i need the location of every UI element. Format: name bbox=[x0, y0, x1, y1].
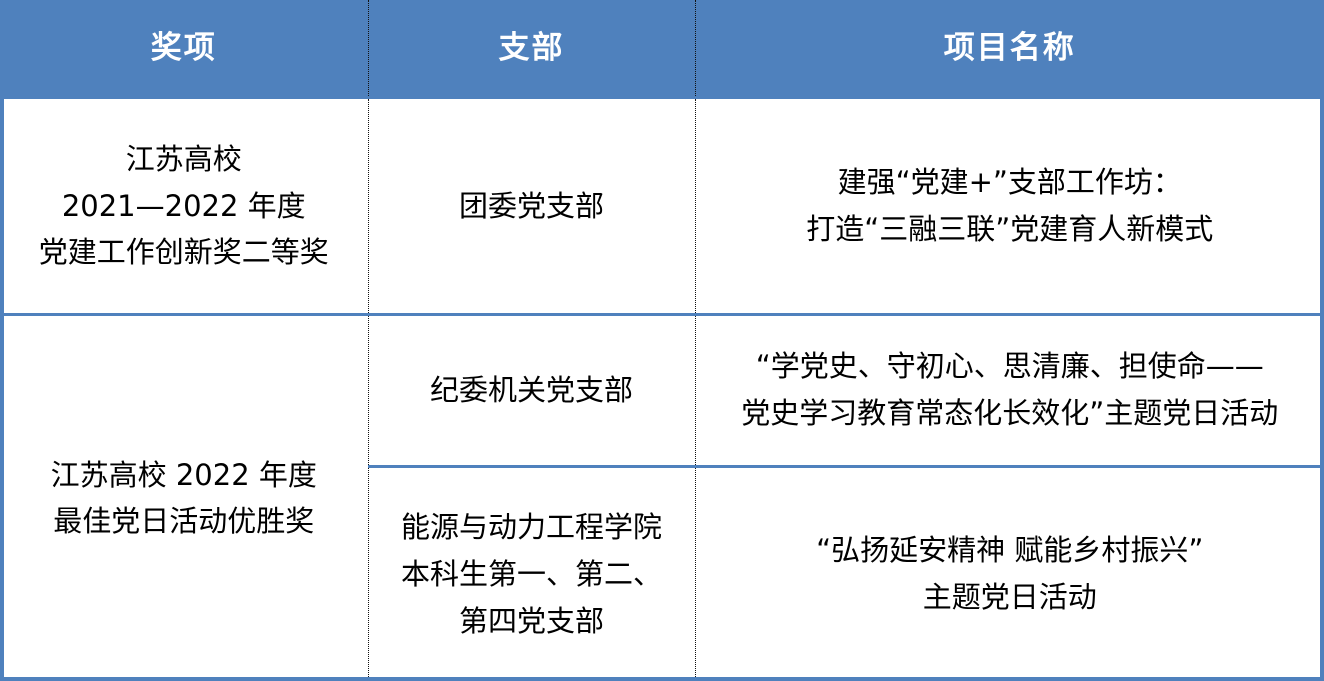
cell-award: 江苏高校 2022 年度 最佳党日活动优胜奖 bbox=[0, 314, 368, 681]
branch-line: 能源与动力工程学院 bbox=[377, 504, 687, 551]
award-table: 奖项 支部 项目名称 江苏高校 2021—2022 年度 党建工作创新奖二等奖 … bbox=[0, 0, 1324, 681]
table-body: 江苏高校 2021—2022 年度 党建工作创新奖二等奖 团委党支部 建强“党建… bbox=[0, 98, 1324, 681]
cell-project: 建强“党建+”支部工作坊： 打造“三融三联”党建育人新模式 bbox=[695, 98, 1324, 315]
project-line: “学党史、守初心、思清廉、担使命—— bbox=[704, 343, 1317, 390]
cell-project: “弘扬延安精神 赋能乡村振兴” 主题党日活动 bbox=[695, 466, 1324, 681]
award-line: 2021—2022 年度 bbox=[8, 183, 360, 230]
cell-award: 江苏高校 2021—2022 年度 党建工作创新奖二等奖 bbox=[0, 98, 368, 315]
header-row: 奖项 支部 项目名称 bbox=[0, 0, 1324, 98]
award-table-frame: 奖项 支部 项目名称 江苏高校 2021—2022 年度 党建工作创新奖二等奖 … bbox=[0, 0, 1324, 681]
cell-branch: 能源与动力工程学院 本科生第一、第二、 第四党支部 bbox=[368, 466, 695, 681]
project-line: 主题党日活动 bbox=[704, 574, 1317, 621]
cell-branch: 团委党支部 bbox=[368, 98, 695, 315]
award-line: 江苏高校 2022 年度 bbox=[8, 452, 360, 499]
branch-line: 本科生第一、第二、 bbox=[377, 551, 687, 598]
branch-line: 第四党支部 bbox=[377, 598, 687, 645]
column-header-branch: 支部 bbox=[368, 0, 695, 98]
table-row: 江苏高校 2021—2022 年度 党建工作创新奖二等奖 团委党支部 建强“党建… bbox=[0, 98, 1324, 315]
branch-line: 团委党支部 bbox=[377, 183, 687, 230]
cell-project: “学党史、守初心、思清廉、担使命—— 党史学习教育常态化长效化”主题党日活动 bbox=[695, 314, 1324, 466]
table-row: 江苏高校 2022 年度 最佳党日活动优胜奖 纪委机关党支部 “学党史、守初心、… bbox=[0, 314, 1324, 466]
award-line: 党建工作创新奖二等奖 bbox=[8, 229, 360, 276]
project-line: 打造“三融三联”党建育人新模式 bbox=[704, 206, 1317, 253]
project-line: 建强“党建+”支部工作坊： bbox=[704, 159, 1317, 206]
award-line: 江苏高校 bbox=[8, 136, 360, 183]
cell-branch: 纪委机关党支部 bbox=[368, 314, 695, 466]
table-header: 奖项 支部 项目名称 bbox=[0, 0, 1324, 98]
project-line: 党史学习教育常态化长效化”主题党日活动 bbox=[704, 390, 1317, 437]
project-line: “弘扬延安精神 赋能乡村振兴” bbox=[704, 527, 1317, 574]
column-header-project: 项目名称 bbox=[695, 0, 1324, 98]
award-line: 最佳党日活动优胜奖 bbox=[8, 498, 360, 545]
column-header-award: 奖项 bbox=[0, 0, 368, 98]
branch-line: 纪委机关党支部 bbox=[377, 367, 687, 414]
